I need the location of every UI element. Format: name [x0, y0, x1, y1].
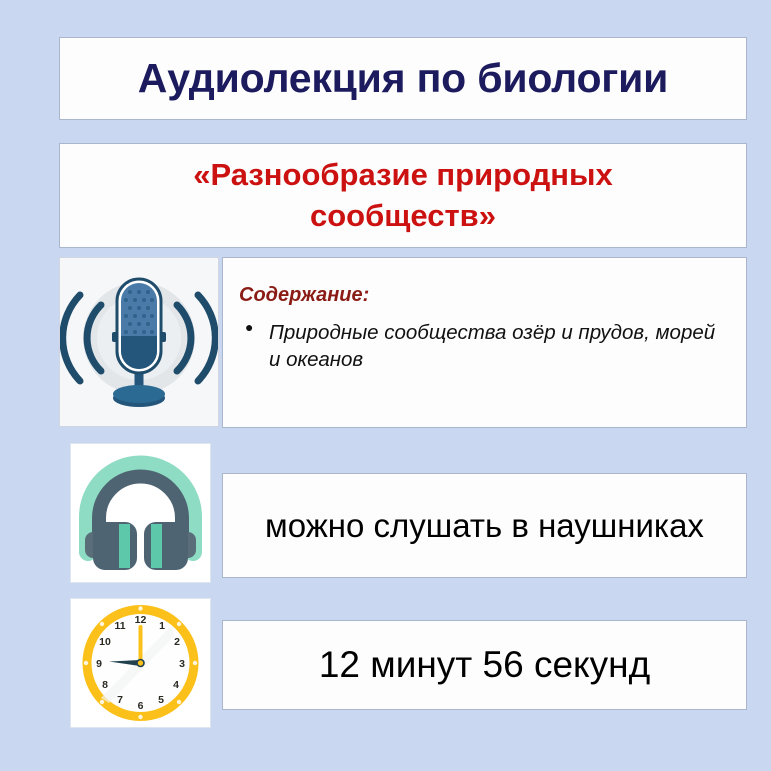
svg-text:8: 8: [102, 679, 108, 691]
contents-panel: Содержание: Природные сообщества озёр и …: [222, 257, 747, 428]
duration-value: 12 минут 56 секунд: [319, 644, 650, 686]
contents-heading: Содержание:: [239, 284, 369, 307]
audio-lecture-slide: Аудиолекция по биологии «Разнообразие пр…: [0, 0, 771, 771]
page-title: Аудиолекция по биологии: [138, 57, 668, 100]
title-panel: Аудиолекция по биологии: [59, 37, 747, 120]
svg-text:12: 12: [135, 614, 147, 626]
headphones-text-panel: можно слушать в наушниках: [222, 473, 747, 578]
svg-text:11: 11: [114, 620, 125, 632]
list-item: Природные сообщества озёр и прудов, море…: [269, 319, 728, 373]
microphone-icon: [60, 258, 218, 426]
svg-text:1: 1: [159, 620, 165, 632]
svg-text:6: 6: [138, 700, 144, 712]
svg-text:2: 2: [174, 636, 180, 648]
lecture-topic-title: «Разнообразие природных сообществ»: [60, 155, 746, 236]
svg-text:4: 4: [173, 679, 179, 691]
microphone-image-panel: [59, 257, 219, 427]
headphones-image-panel: [70, 443, 211, 583]
subtitle-panel: «Разнообразие природных сообществ»: [59, 143, 747, 248]
svg-text:9: 9: [96, 658, 102, 670]
svg-text:5: 5: [158, 694, 164, 706]
svg-text:7: 7: [117, 694, 123, 706]
contents-list: Природные сообщества озёр и прудов, море…: [239, 319, 728, 373]
clock-image-panel: 12 1 2 3 4 5 6 7 8 9 10 11: [70, 598, 211, 728]
svg-text:10: 10: [99, 636, 111, 648]
headphones-icon: [71, 444, 210, 582]
clock-icon: 12 1 2 3 4 5 6 7 8 9 10 11: [71, 599, 210, 727]
headphones-note: можно слушать в наушниках: [265, 507, 704, 545]
duration-text-panel: 12 минут 56 секунд: [222, 620, 747, 710]
svg-text:3: 3: [179, 658, 185, 670]
